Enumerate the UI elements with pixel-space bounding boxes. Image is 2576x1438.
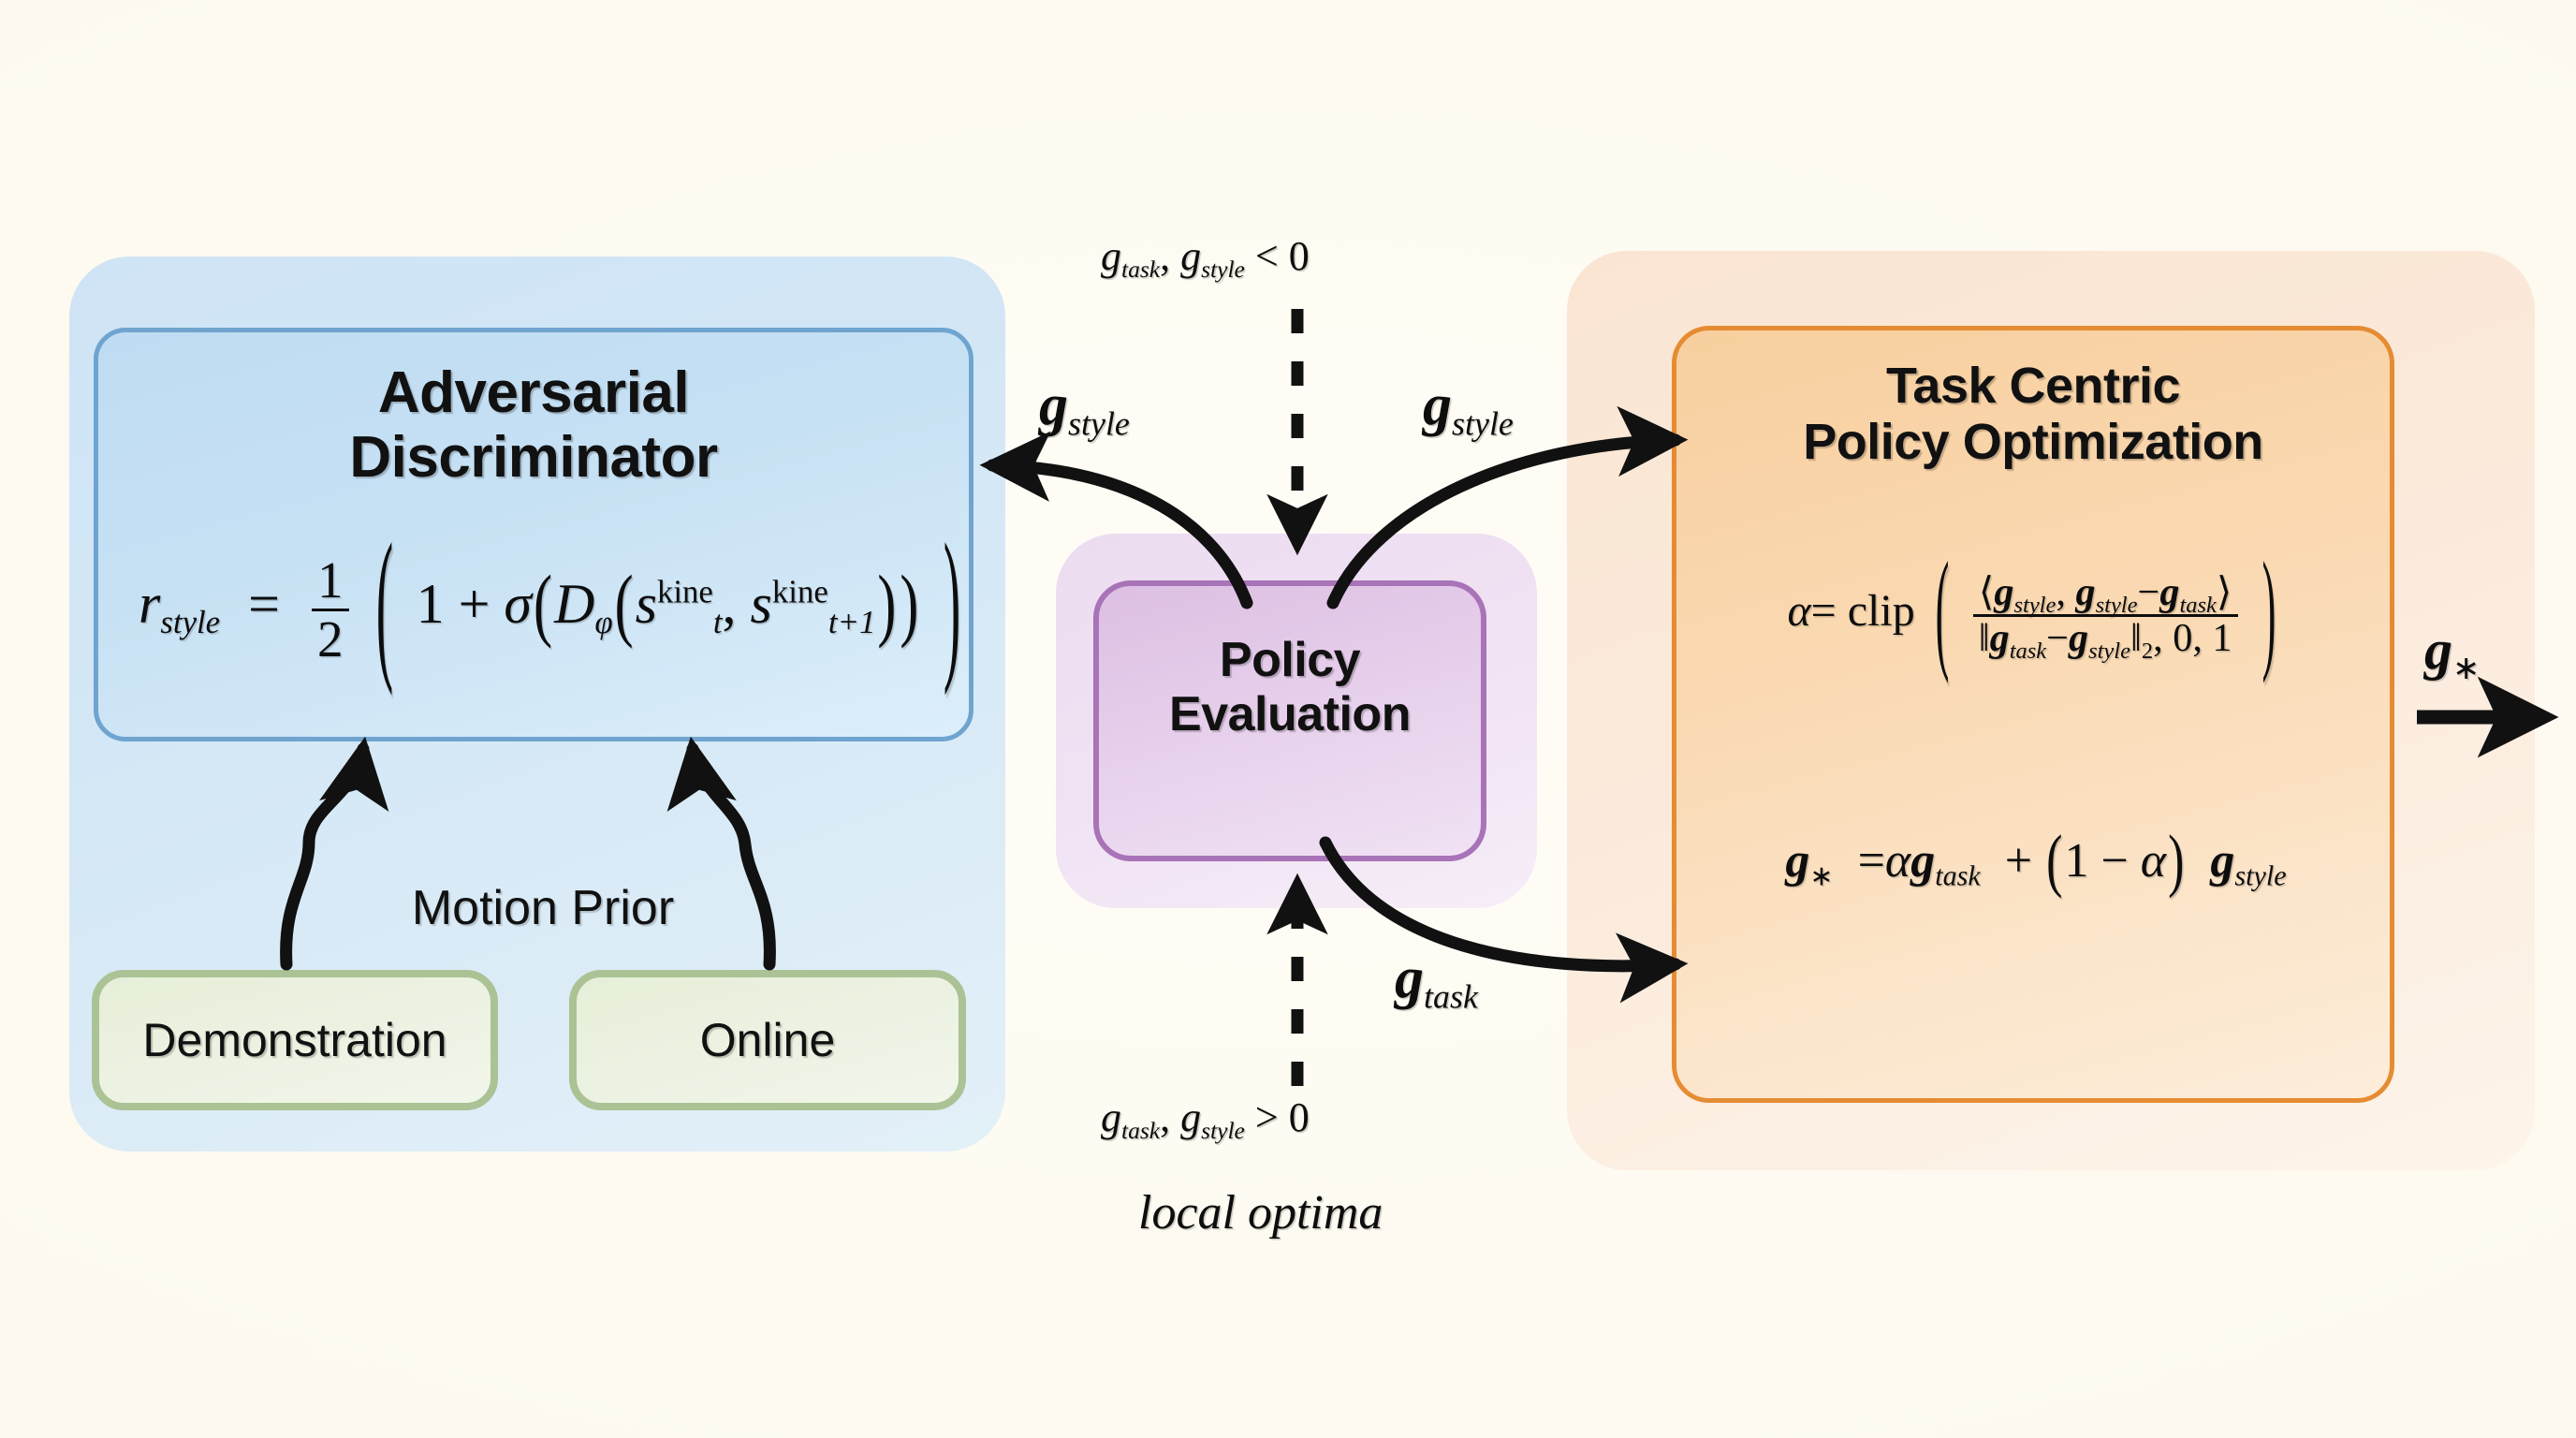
gstyle-to-optimizer-label: gstyle bbox=[1423, 373, 1514, 439]
motion-prior-label: Motion Prior bbox=[374, 880, 711, 936]
g-star-formula: g∗ =αgtask + (1 − α) gstyle bbox=[1694, 833, 2378, 888]
task-centric-policy-optimization-title: Task Centric Policy Optimization bbox=[1672, 358, 2394, 471]
policy-evaluation-title: Policy Evaluation bbox=[1093, 633, 1486, 741]
condition-top-label: gtask, gstyle < 0 bbox=[1101, 232, 1310, 280]
condition-bottom-label: gtask, gstyle > 0 bbox=[1101, 1093, 1310, 1141]
online-label: Online bbox=[569, 970, 966, 1110]
gstyle-to-discriminator-label: gstyle bbox=[1039, 373, 1130, 439]
demonstration-label: Demonstration bbox=[92, 970, 498, 1110]
adversarial-discriminator-title: Adversarial Discriminator bbox=[94, 360, 973, 491]
local-optima-label: local optima bbox=[1138, 1185, 1383, 1240]
alpha-clip-formula: α= clip ( ⟨gstyle, gstyle−gtask⟩ ‖gtask−… bbox=[1694, 571, 2378, 659]
reward-style-formula: rstyle = 12 ( 1 + σ(Dφ(skinet, skinet+1)… bbox=[139, 552, 934, 667]
gtask-to-optimizer-label: gtask bbox=[1395, 946, 1478, 1012]
g-star-output-label: g∗ bbox=[2424, 618, 2480, 682]
diagram-canvas: Adversarial Discriminator Task Centric P… bbox=[0, 0, 2576, 1438]
